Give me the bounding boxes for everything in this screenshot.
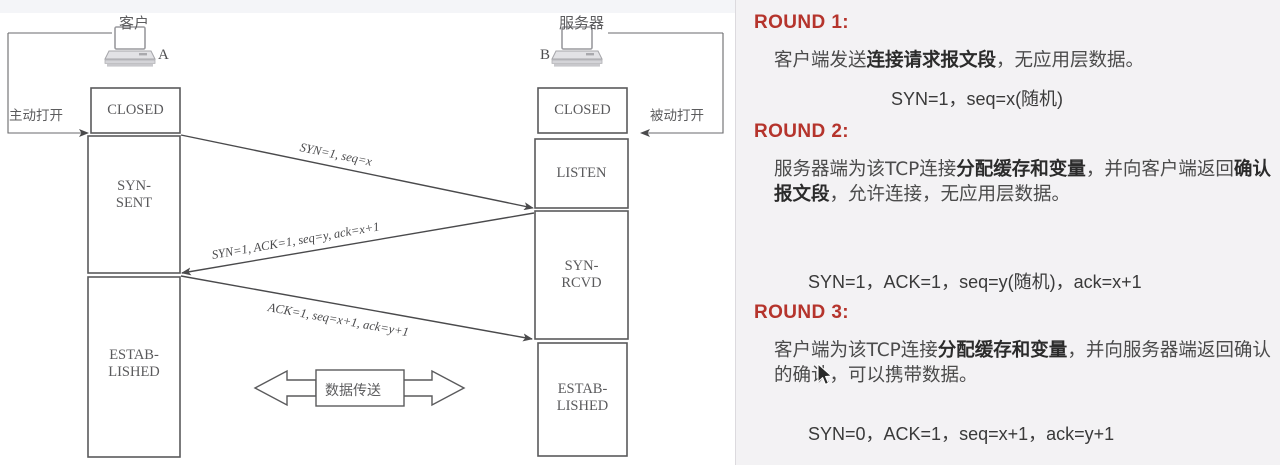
active-open-label: 主动打开	[9, 104, 63, 124]
round-2-body-bold: 分配缓存和变量	[956, 159, 1086, 180]
round-2-body-mid: ，并向客户端返回	[1086, 159, 1234, 180]
server-state-syn-rcvd: SYN- RCVD	[535, 258, 628, 292]
client-state-closed: CLOSED	[91, 102, 180, 119]
round-1-body-post: ，无应用层数据。	[996, 50, 1144, 71]
server-state-established: ESTAB- LISHED	[538, 381, 627, 415]
round-2-body-pre: 服务器端为该TCP连接	[774, 159, 956, 180]
client-title: 客户	[119, 12, 149, 33]
server-state-closed: CLOSED	[538, 102, 627, 119]
round-2-formula: SYN=1，ACK=1，seq=y(随机)，ack=x+1	[808, 268, 1142, 294]
round-3-body-pre: 客户端为该TCP连接	[774, 340, 938, 361]
round-2-body: 服务器端为该TCP连接分配缓存和变量，并向客户端返回确认报文段，允许连接，无应用…	[774, 157, 1272, 207]
client-state-syn-sent: SYN- SENT	[88, 178, 180, 212]
round-1-body-bold: 连接请求报文段	[867, 50, 997, 71]
round-1-body: 客户端发送连接请求报文段，无应用层数据。	[774, 48, 1272, 73]
client-host-letter: A	[158, 47, 169, 64]
round-3-body: 客户端为该TCP连接分配缓存和变量，并向服务器端返回确认的确认，可以携带数据。	[774, 338, 1272, 388]
server-host-letter: B	[540, 47, 550, 64]
round-1-body-pre: 客户端发送	[774, 50, 867, 71]
screenshot-root: 客户 A 服务器 B 主动打开 被动打开 CLOSED SYN- SENT ES…	[0, 0, 1280, 465]
explanation-panel: ROUND 1: 客户端发送连接请求报文段，无应用层数据。 SYN=1，seq=…	[735, 0, 1280, 465]
round-1-heading: ROUND 1:	[754, 12, 849, 34]
round-3-formula: SYN=0，ACK=1，seq=x+1，ack=y+1	[808, 420, 1114, 446]
round-3-body-bold: 分配缓存和变量	[938, 340, 1068, 361]
data-transfer-label: 数据传送	[325, 380, 381, 400]
passive-open-label: 被动打开	[650, 104, 704, 124]
server-state-listen: LISTEN	[535, 165, 628, 182]
round-2-heading: ROUND 2:	[754, 121, 849, 143]
round-1-formula: SYN=1，seq=x(随机)	[891, 85, 1063, 111]
client-state-established: ESTAB- LISHED	[88, 347, 180, 381]
tcp-handshake-diagram: 客户 A 服务器 B 主动打开 被动打开 CLOSED SYN- SENT ES…	[0, 0, 735, 465]
server-title: 服务器	[559, 12, 604, 33]
round-3-heading: ROUND 3:	[754, 302, 849, 324]
client-state-boxes	[88, 88, 180, 457]
round-2-body-post: ，允许连接，无应用层数据。	[830, 184, 1071, 205]
